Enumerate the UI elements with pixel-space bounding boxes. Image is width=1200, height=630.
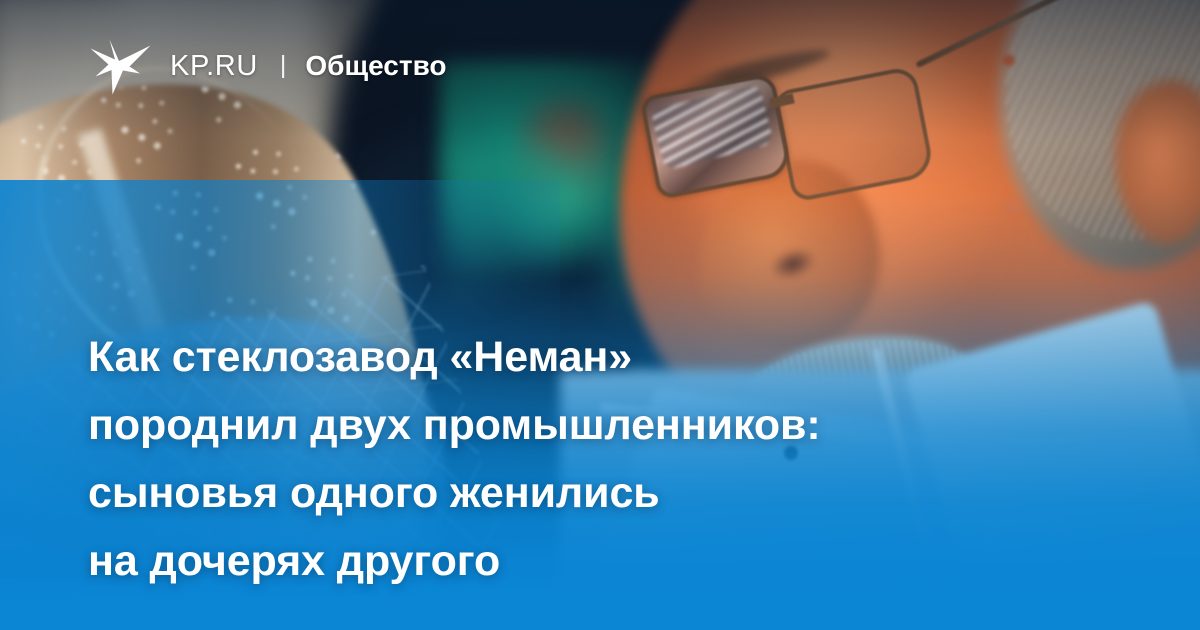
headline-line-3: сыновья одного женились <box>88 459 1088 527</box>
brand-label[interactable]: KP.RU <box>170 52 258 81</box>
rubric-label[interactable]: Общество <box>305 52 446 80</box>
header-bar: KP.RU | Общество <box>88 38 447 94</box>
social-share-card: KP.RU | Общество Как стеклозавод «Неман»… <box>0 0 1200 630</box>
headline-title: Как стеклозавод «Неман» породнил двух пр… <box>88 323 1088 595</box>
headline-line-4: на дочерях другого <box>88 527 1088 595</box>
headline-line-1: Как стеклозавод «Неман» <box>88 323 1088 391</box>
photo-man-mole-forehead <box>1002 55 1015 66</box>
photo-man-mole-cheek <box>1004 200 1020 214</box>
header-divider: | <box>280 53 287 78</box>
headline-line-2: породнил двух промышленников: <box>88 391 1088 459</box>
kp-swallow-bird-icon[interactable] <box>88 37 152 95</box>
photo-teal-strip-blur <box>450 150 560 340</box>
